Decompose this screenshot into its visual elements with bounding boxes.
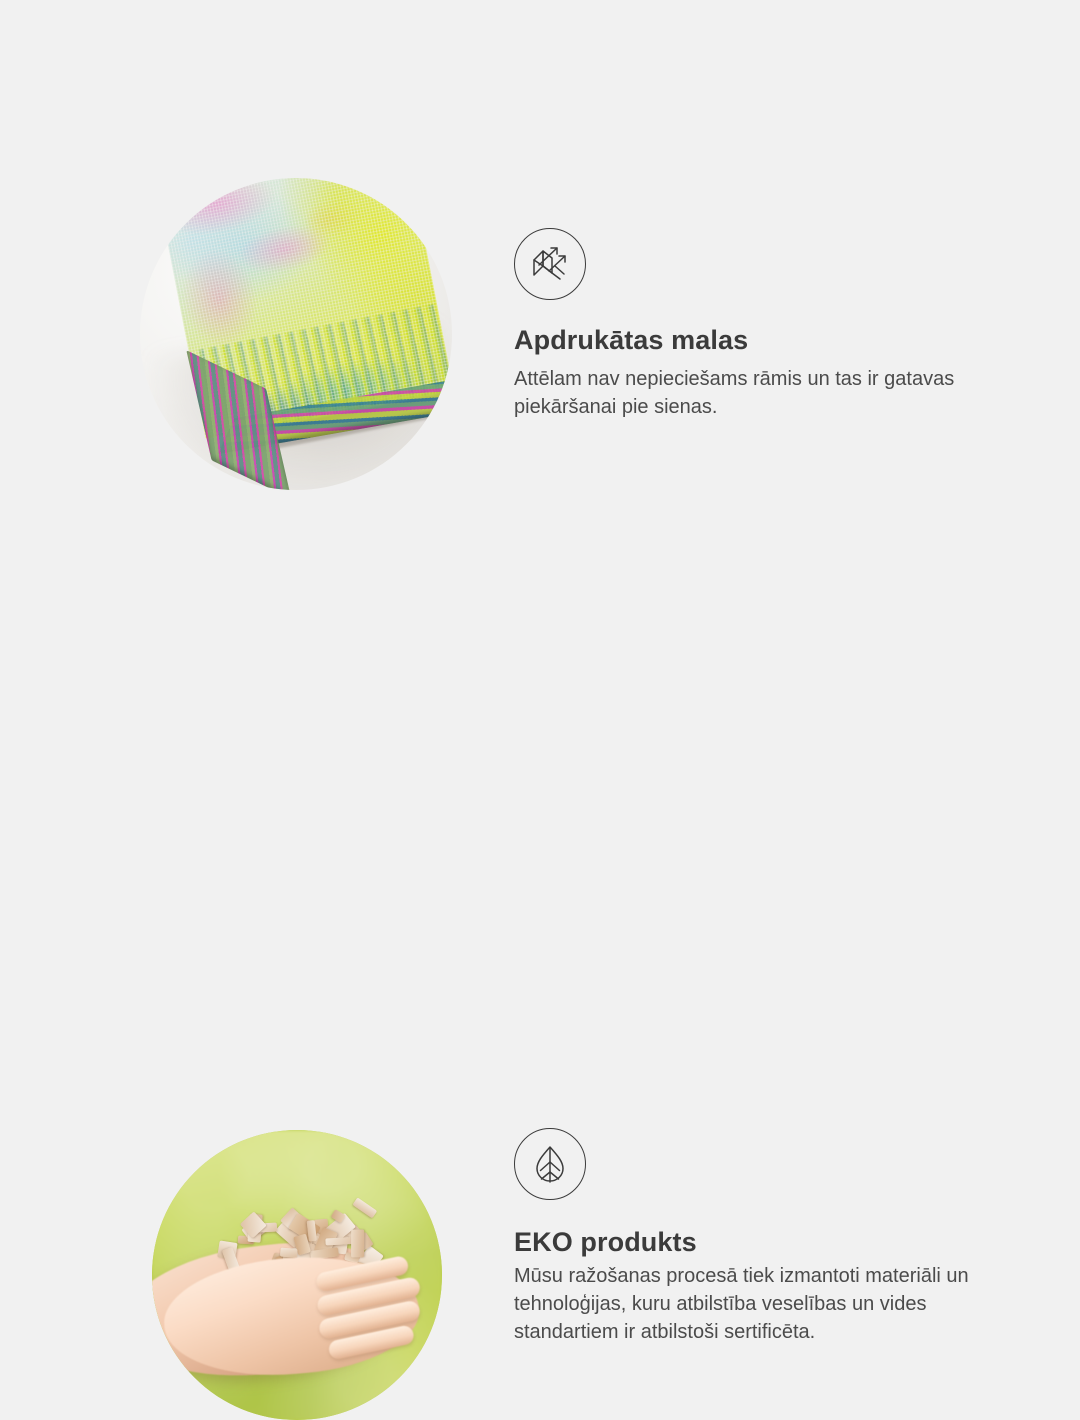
feature-text-printed-edges: Apdrukātas malas Attēlam nav nepieciešam… bbox=[514, 228, 1014, 421]
product-feature-page: Apdrukātas malas Attēlam nav nepieciešam… bbox=[0, 0, 1080, 1080]
feature-section-eco-product: EKO produkts Mūsu ražošanas procesā tiek… bbox=[0, 540, 1080, 1080]
leaf-icon bbox=[514, 1128, 586, 1200]
printed-edges-icon bbox=[514, 228, 586, 300]
canvas-corner-photo bbox=[140, 178, 452, 490]
feature-text-eco-product: EKO produkts Mūsu ražošanas procesā tiek… bbox=[514, 1128, 1014, 1347]
wood-chip bbox=[351, 1230, 364, 1258]
feature-title: Apdrukātas malas bbox=[514, 326, 1014, 356]
feature-title: EKO produkts bbox=[514, 1228, 1014, 1258]
feature-description: Mūsu ražošanas procesā tiek izmantoti ma… bbox=[514, 1262, 1000, 1347]
feature-description: Attēlam nav nepieciešams rāmis un tas ir… bbox=[514, 365, 1000, 422]
wood-chips-in-hands-photo bbox=[152, 1130, 442, 1420]
feature-section-printed-edges: Apdrukātas malas Attēlam nav nepieciešam… bbox=[0, 0, 1080, 540]
